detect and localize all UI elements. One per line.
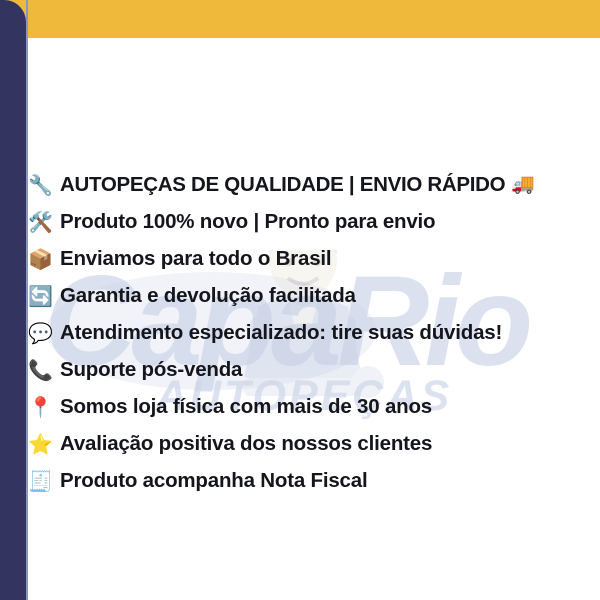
promo-banner-page: CapaRio AUTOPEÇAS 🔧 AUTOPEÇAS DE QUALIDA… — [0, 0, 600, 600]
feature-list: 🔧 AUTOPEÇAS DE QUALIDADE | ENVIO RÁPIDO … — [28, 166, 594, 499]
feature-text: Suporte pós-venda — [60, 358, 242, 382]
hammer-and-wrench-icon: 🛠️ — [28, 212, 60, 232]
feature-text: Somos loja física com mais de 30 anos — [60, 395, 432, 419]
list-item: 💬 Atendimento especializado: tire suas d… — [28, 314, 594, 351]
star-icon: ⭐ — [28, 434, 60, 454]
feature-text: Produto 100% novo | Pronto para envio — [60, 210, 435, 234]
left-navy-bar — [0, 0, 26, 600]
feature-text: Avaliação positiva dos nossos clientes — [60, 432, 432, 456]
feature-text: Garantia e devolução facilitada — [60, 284, 356, 308]
list-item: ⭐ Avaliação positiva dos nossos clientes — [28, 425, 594, 462]
receipt-icon: 🧾 — [28, 471, 60, 491]
list-item: 📦 Enviamos para todo o Brasil — [28, 240, 594, 277]
top-gold-banner — [0, 0, 600, 38]
package-icon: 📦 — [28, 249, 60, 269]
list-item: 🛠️ Produto 100% novo | Pronto para envio — [28, 203, 594, 240]
list-item: 🔧 AUTOPEÇAS DE QUALIDADE | ENVIO RÁPIDO … — [28, 166, 594, 203]
list-item: 🧾 Produto acompanha Nota Fiscal — [28, 462, 594, 499]
list-item: 🔄 Garantia e devolução facilitada — [28, 277, 594, 314]
feature-text: Produto acompanha Nota Fiscal — [60, 469, 367, 493]
left-bar-edge-line — [26, 0, 28, 600]
map-pin-icon: 📍 — [28, 397, 60, 417]
telephone-receiver-icon: 📞 — [28, 360, 60, 380]
feature-text: Atendimento especializado: tire suas dúv… — [60, 321, 502, 345]
feature-text: Enviamos para todo o Brasil — [60, 247, 331, 271]
list-item: 📍 Somos loja física com mais de 30 anos — [28, 388, 594, 425]
list-item: 📞 Suporte pós-venda — [28, 351, 594, 388]
delivery-truck-icon: 🚚 — [511, 175, 535, 194]
wrench-icon: 🔧 — [28, 175, 60, 195]
speech-balloon-icon: 💬 — [28, 323, 60, 343]
feature-text: AUTOPEÇAS DE QUALIDADE | ENVIO RÁPIDO — [60, 173, 505, 197]
refresh-arrows-icon: 🔄 — [28, 286, 60, 306]
